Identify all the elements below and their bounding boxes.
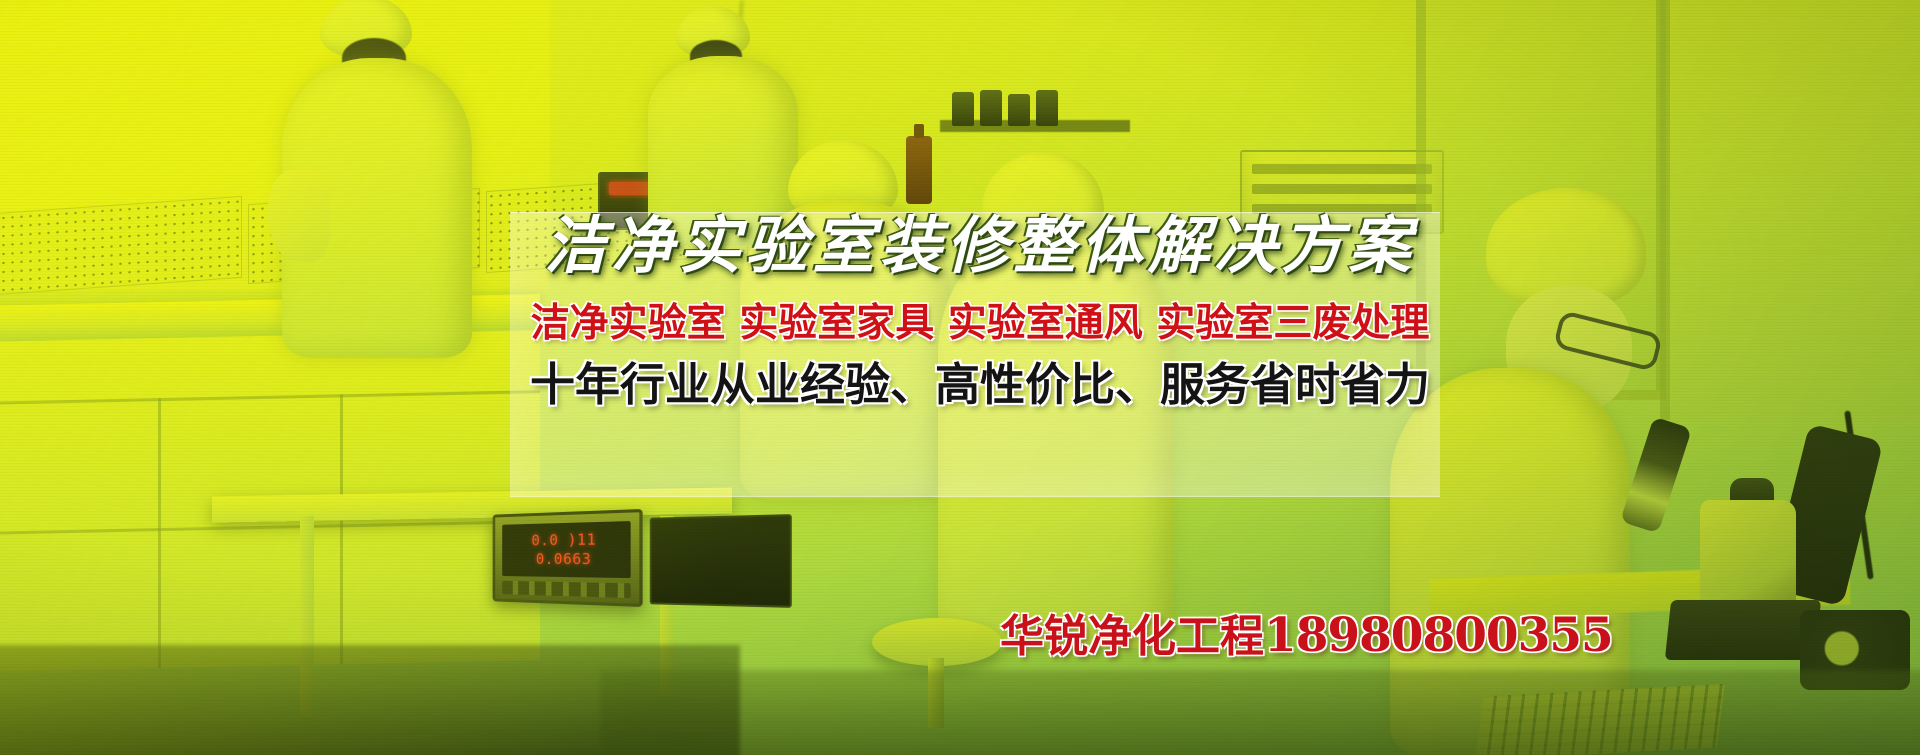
- banner-headline: 洁净实验室装修整体解决方案: [540, 212, 1420, 283]
- banner-contact-line: 华锐净化工程18980800355: [1000, 600, 1613, 664]
- company-name: 华锐净化工程: [1000, 611, 1264, 662]
- banner-services-line: 洁净实验室 实验室家具 实验室通风 实验室三废处理: [520, 292, 1440, 348]
- promo-banner: 0.0 )11 0.0663 洁净实验室装修整体解决方案 洁净实验室 实验室家具…: [0, 0, 1920, 755]
- phone-number: 18980800355: [1264, 608, 1613, 663]
- banner-value-proposition: 十年行业从业经验、高性价比、服务省时省力: [520, 348, 1440, 413]
